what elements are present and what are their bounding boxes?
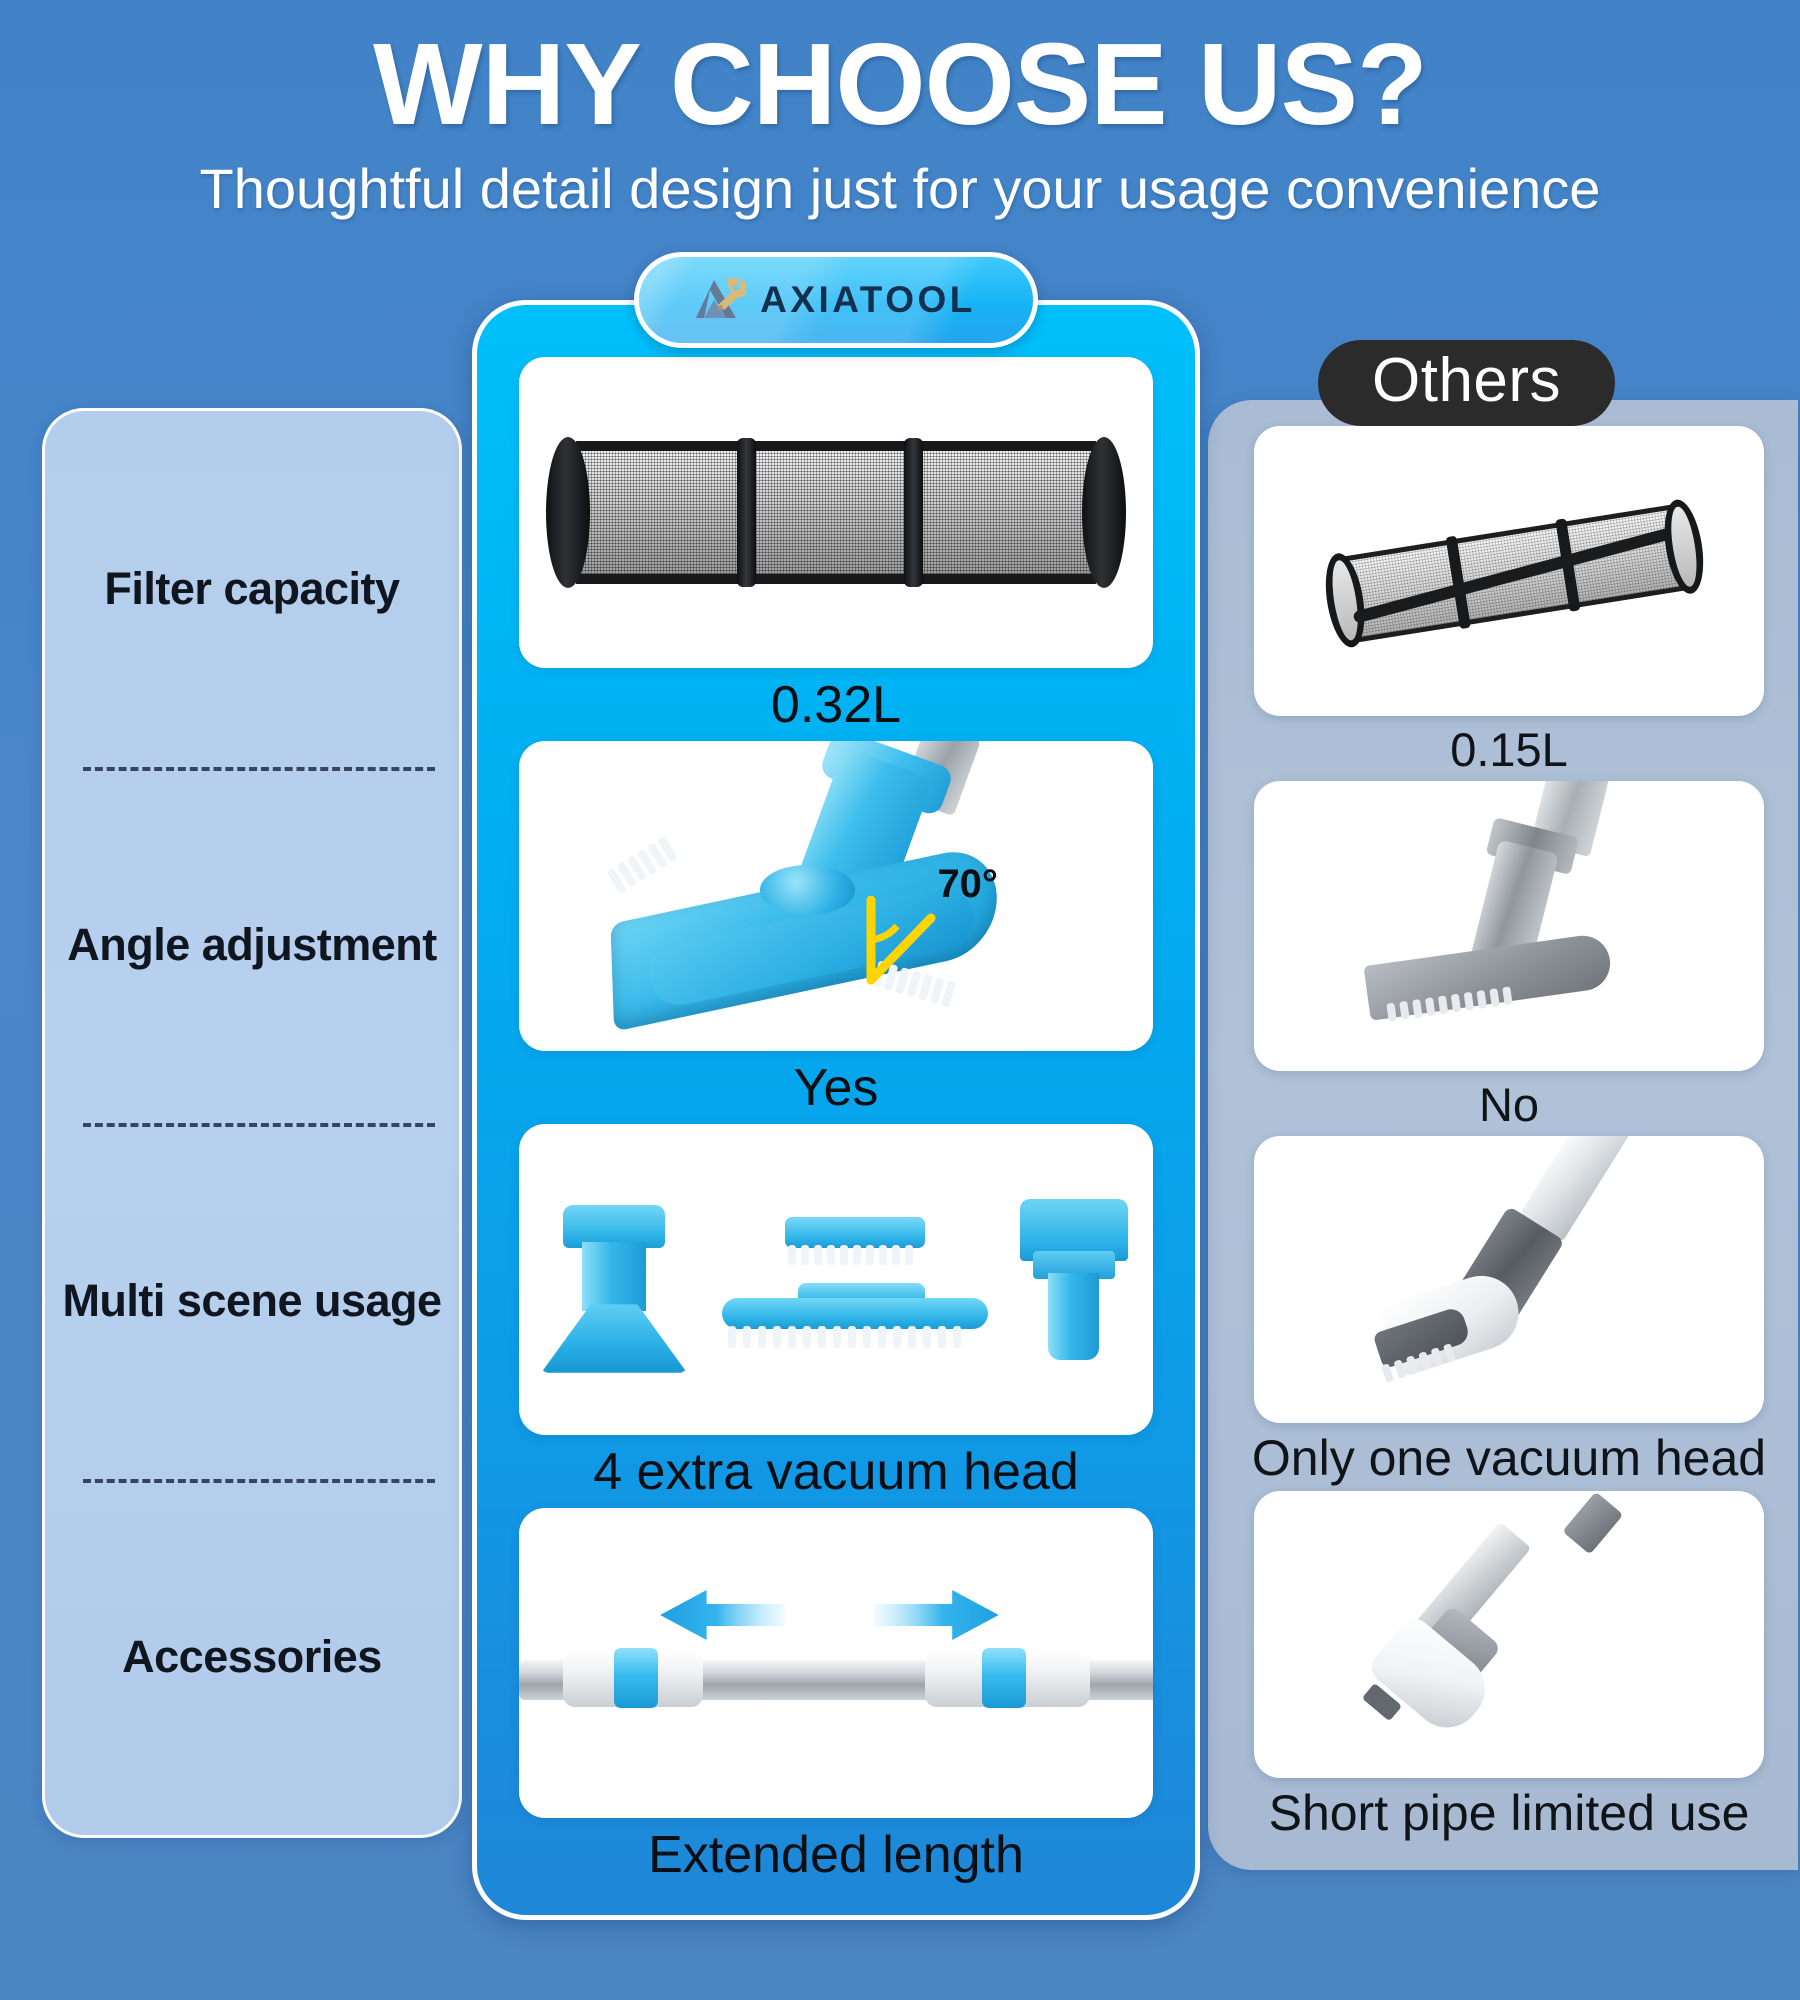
gray-vacuum-head-fixed-icon <box>1254 781 1764 1071</box>
telescoping-aluminum-pole-icon <box>519 1508 1153 1819</box>
arrow-right-icon <box>874 1588 1001 1642</box>
others-cell-accessories: Short pipe limited use <box>1254 1491 1764 1846</box>
feature-label-row: Multi scene usage <box>45 1123 459 1479</box>
brand-value-angle-adjustment: Yes <box>794 1051 879 1124</box>
feature-label-multi-scene-usage: Multi scene usage <box>62 1275 441 1327</box>
others-value-filter-capacity: 0.15L <box>1450 716 1568 781</box>
others-column: 0.15L No <box>1208 400 1798 1870</box>
feature-label-row: Filter capacity <box>45 411 459 767</box>
others-image-angle <box>1254 781 1764 1071</box>
brand-badge: AXIATOOL <box>634 252 1038 348</box>
brand-cell-multi-scene-usage: 4 extra vacuum head <box>519 1124 1153 1508</box>
single-white-gray-vacuum-head-icon <box>1254 1136 1764 1423</box>
page-subtitle: Thoughtful detail design just for your u… <box>0 142 1800 221</box>
feature-label-row: Accessories <box>45 1479 459 1835</box>
others-value-angle-adjustment: No <box>1479 1071 1539 1136</box>
axiatool-triangle-wrench-logo-icon <box>696 274 750 326</box>
others-cell-angle-adjustment: No <box>1254 781 1764 1136</box>
brand-image-pole <box>519 1508 1153 1819</box>
header: WHY CHOOSE US? Thoughtful detail design … <box>0 0 1800 221</box>
others-image-filter <box>1254 426 1764 716</box>
brand-value-filter-capacity: 0.32L <box>771 668 901 741</box>
brand-image-attachments <box>519 1124 1153 1435</box>
brand-name: AXIATOOL <box>760 279 976 321</box>
feature-label-row: Angle adjustment <box>45 767 459 1123</box>
mesh-filter-cartridge-small-icon <box>1254 426 1764 716</box>
feature-label-angle-adjustment: Angle adjustment <box>67 919 437 971</box>
others-image-vacuum-head <box>1254 1136 1764 1423</box>
blue-vacuum-head-angled-icon: 70° <box>519 741 1153 1052</box>
brand-image-angle: 70° <box>519 741 1153 1052</box>
feature-label-accessories: Accessories <box>122 1631 382 1683</box>
brand-cell-accessories: Extended length <box>519 1508 1153 1892</box>
others-value-multi-scene-usage: Only one vacuum head <box>1252 1423 1766 1492</box>
brand-cell-angle-adjustment: 70° Yes <box>519 741 1153 1125</box>
others-cell-multi-scene-usage: Only one vacuum head <box>1254 1136 1764 1491</box>
angle-annotation: 70° <box>937 862 998 907</box>
others-value-accessories: Short pipe limited use <box>1269 1778 1750 1847</box>
mesh-filter-cartridge-large-icon <box>519 357 1153 668</box>
feature-label-filter-capacity: Filter capacity <box>104 563 399 615</box>
brand-value-accessories: Extended length <box>648 1818 1024 1891</box>
others-cell-filter-capacity: 0.15L <box>1254 426 1764 781</box>
brand-column: 0.32L 70° <box>472 300 1200 1920</box>
brand-value-multi-scene-usage: 4 extra vacuum head <box>593 1435 1079 1508</box>
others-image-short-pipe <box>1254 1491 1764 1778</box>
page-title: WHY CHOOSE US? <box>0 0 1800 142</box>
feature-label-column: Filter capacity Angle adjustment Multi s… <box>42 408 462 1838</box>
others-badge: Others <box>1318 340 1615 426</box>
four-blue-attachment-heads-icon <box>519 1124 1153 1435</box>
arrow-left-icon <box>658 1588 785 1642</box>
angle-70-marker-icon <box>861 896 947 988</box>
brand-cell-filter-capacity: 0.32L <box>519 357 1153 741</box>
short-handle-mop-icon <box>1254 1491 1764 1778</box>
brand-image-filter <box>519 357 1153 668</box>
